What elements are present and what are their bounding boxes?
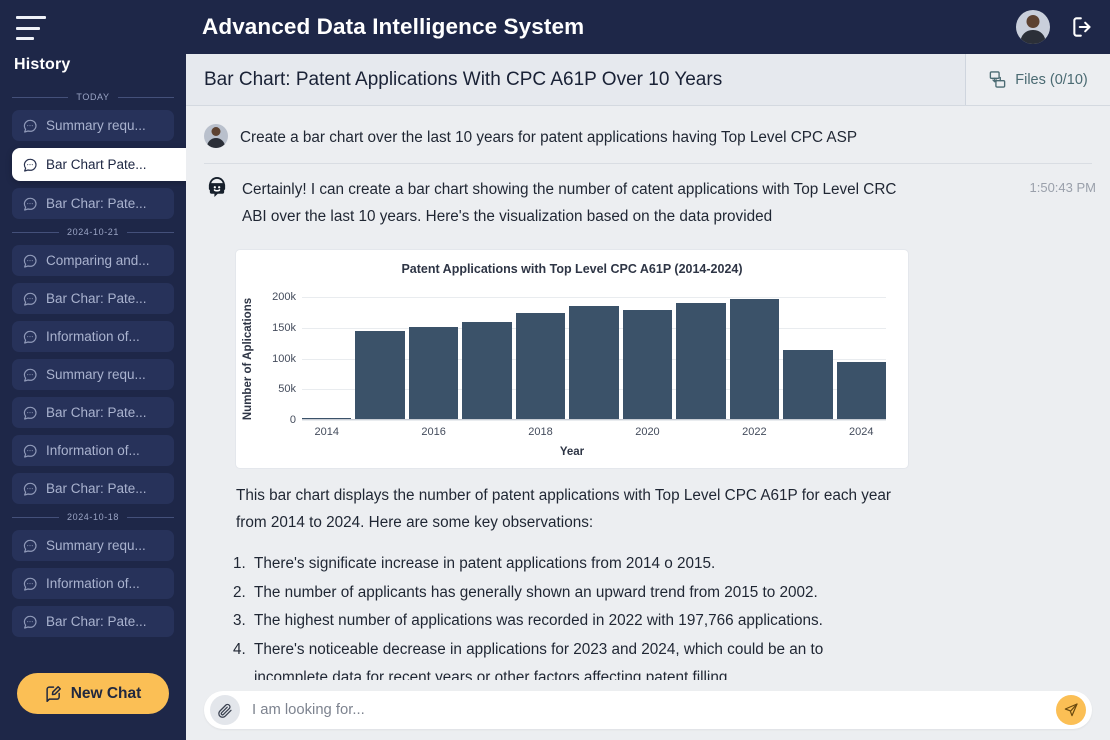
chart-bar — [837, 362, 886, 420]
history-item-label: Bar Char: Pate... — [46, 614, 147, 629]
composer-inner — [204, 691, 1092, 729]
search-input[interactable] — [240, 702, 1056, 718]
chart-y-tick-label: 50k — [278, 383, 296, 395]
chart-bar — [409, 327, 458, 420]
history-item-label: Bar Char: Pate... — [46, 291, 147, 306]
divider-line — [127, 517, 174, 518]
chat-scroll-area[interactable]: Create a bar chart over the last 10 year… — [186, 106, 1110, 680]
chat-bubble-icon — [22, 329, 38, 345]
chart-bar — [623, 310, 672, 420]
send-button[interactable] — [1056, 695, 1086, 725]
observations-list: There's significate increase in patent a… — [250, 550, 896, 680]
hamburger-bar — [16, 27, 40, 30]
chart-x-tick-label: 2020 — [623, 426, 672, 438]
chart-x-tick-label: 2018 — [516, 426, 565, 438]
conversation-title: Bar Chart: Patent Applications With CPC … — [204, 69, 722, 91]
conversation-title-wrap: Bar Chart: Patent Applications With CPC … — [186, 54, 965, 105]
history-item[interactable]: Summary requ... — [12, 530, 174, 561]
history-item-active[interactable]: Bar Chart Pate... — [12, 148, 186, 181]
hamburger-icon[interactable] — [16, 16, 48, 40]
avatar-head — [212, 127, 221, 136]
chart-card: Patent Applications with Top Level CPC A… — [236, 250, 908, 468]
chart-y-tick-label: 150k — [272, 322, 296, 334]
history-date-label: TODAY — [76, 92, 109, 102]
chart-bars — [302, 288, 886, 420]
observation-item: The number of applicants has generally s… — [250, 579, 896, 608]
history-list[interactable]: TODAYSummary requ...Bar Chart Pate...Bar… — [0, 84, 186, 673]
chart-y-tick-label: 100k — [272, 353, 296, 365]
chart-x-tick-label: 2014 — [302, 426, 351, 438]
conversation-header: Bar Chart: Patent Applications With CPC … — [186, 54, 1110, 106]
history-item[interactable]: Bar Char: Pate... — [12, 397, 174, 428]
chart-x-tick-label — [355, 426, 404, 438]
main-area: Advanced Data Intelligence System Bar Ch… — [186, 0, 1110, 740]
chart-summary: This bar chart displays the number of pa… — [236, 482, 896, 680]
sidebar: History TODAYSummary requ...Bar Chart Pa… — [0, 0, 186, 740]
history-item-label: Information of... — [46, 576, 140, 591]
history-item-label: Bar Char: Pate... — [46, 405, 147, 420]
history-item[interactable]: Information of... — [12, 568, 174, 599]
user-avatar[interactable] — [1016, 10, 1050, 44]
divider-line — [118, 97, 174, 98]
avatar-body — [207, 138, 225, 148]
chart-bar — [516, 313, 565, 420]
chart-x-tick-label — [462, 426, 511, 438]
chat-bubble-icon — [22, 538, 38, 554]
history-item-label: Information of... — [46, 329, 140, 344]
top-bar: Advanced Data Intelligence System — [186, 0, 1110, 54]
message-text: Create a bar chart over the last 10 year… — [240, 124, 1096, 151]
message-assistant: Certainly! I can create a bar chart show… — [186, 168, 1110, 238]
history-date-divider: 2024-10-18 — [12, 512, 174, 522]
message-user: Create a bar chart over the last 10 year… — [186, 116, 1110, 159]
history-item[interactable]: Information of... — [12, 321, 174, 352]
history-date-divider: 2024-10-21 — [12, 227, 174, 237]
history-item-label: Bar Char: Pate... — [46, 196, 147, 211]
chart-x-tick-label: 2024 — [837, 426, 886, 438]
message-divider — [204, 163, 1092, 164]
chart-y-tick-label: 0 — [290, 414, 296, 426]
history-heading: History — [14, 56, 186, 74]
chat-bubble-icon — [22, 443, 38, 459]
history-item-label: Bar Char: Pate... — [46, 481, 147, 496]
message-timestamp: 1:50:43 PM — [1030, 176, 1097, 230]
file-transfer-icon — [988, 70, 1007, 89]
history-item[interactable]: Summary requ... — [12, 110, 174, 141]
user-avatar — [204, 124, 228, 148]
composer — [186, 680, 1110, 740]
chat-bubble-icon — [22, 291, 38, 307]
chat-bubble-icon — [22, 481, 38, 497]
chart-x-tick-label: 2022 — [730, 426, 779, 438]
chat-bubble-icon — [22, 118, 38, 134]
hamburger-bar — [16, 16, 46, 19]
chart-plot-area: 050k100k150k200k — [302, 288, 886, 420]
history-item-label: Summary requ... — [46, 538, 146, 553]
new-chat-label: New Chat — [71, 685, 142, 703]
chart-x-tick-label — [676, 426, 725, 438]
history-item-label: Comparing and... — [46, 253, 150, 268]
chart-bar — [783, 350, 832, 420]
chart-gridline — [302, 420, 886, 421]
history-item[interactable]: Bar Char: Pate... — [12, 473, 174, 504]
chart-bar — [676, 303, 725, 420]
history-item-label: Bar Chart Pate... — [46, 157, 147, 172]
logout-icon[interactable] — [1070, 14, 1096, 40]
history-date-label: 2024-10-21 — [67, 227, 119, 237]
chart-title: Patent Applications with Top Level CPC A… — [236, 250, 908, 276]
chart-y-tick-label: 200k — [272, 291, 296, 303]
history-item-label: Information of... — [46, 443, 140, 458]
avatar-body — [1021, 30, 1046, 44]
chat-bubble-icon — [22, 576, 38, 592]
chart-x-axis — [302, 419, 886, 420]
history-item[interactable]: Bar Char: Pate... — [12, 606, 174, 637]
message-avatar — [204, 124, 228, 151]
chart-x-axis-label: Year — [236, 446, 908, 458]
chart-x-tick-label — [569, 426, 618, 438]
chat-bubble-icon — [22, 367, 38, 383]
avatar-head — [1027, 15, 1040, 28]
observation-item: There's noticeable decrease in applicati… — [250, 636, 896, 681]
history-item[interactable]: Comparing and... — [12, 245, 174, 276]
chart-x-tick-label — [783, 426, 832, 438]
chat-bubble-icon — [22, 614, 38, 630]
history-date-label: 2024-10-18 — [67, 512, 119, 522]
chart-y-axis-label: Number of Aplications — [242, 298, 254, 420]
message-body: Certainly! I can create a bar chart show… — [242, 176, 1018, 230]
history-item-label: Summary requ... — [46, 367, 146, 382]
summary-intro: This bar chart displays the number of pa… — [236, 482, 896, 536]
files-label: Files (0/10) — [1015, 72, 1088, 88]
hamburger-bar — [16, 37, 34, 40]
chart-bar — [462, 322, 511, 420]
message-body: Create a bar chart over the last 10 year… — [240, 124, 1096, 151]
divider-line — [12, 232, 59, 233]
chart-x-tick-label: 2016 — [409, 426, 458, 438]
divider-line — [12, 97, 68, 98]
files-button[interactable]: Files (0/10) — [965, 54, 1110, 105]
chart-x-ticks: 201420162018202020222024 — [302, 426, 886, 438]
chart-bar — [730, 299, 779, 420]
paperclip-icon[interactable] — [210, 695, 240, 725]
history-item[interactable]: Summary requ... — [12, 359, 174, 390]
observation-item: The highest number of applications was r… — [250, 607, 896, 636]
compose-icon — [45, 685, 62, 702]
chart-bar — [355, 331, 404, 420]
new-chat-button[interactable]: New Chat — [17, 673, 169, 714]
history-item[interactable]: Bar Char: Pate... — [12, 283, 174, 314]
history-date-divider: TODAY — [12, 92, 174, 102]
observation-item: There's significate increase in patent a… — [250, 550, 896, 579]
chat-bubble-icon — [22, 157, 38, 173]
divider-line — [12, 517, 59, 518]
chat-bubble-icon — [22, 405, 38, 421]
history-item[interactable]: Bar Char: Pate... — [12, 188, 174, 219]
message-text: Certainly! I can create a bar chart show… — [242, 176, 897, 230]
chart-bar — [569, 306, 618, 420]
divider-line — [127, 232, 174, 233]
history-item[interactable]: Information of... — [12, 435, 174, 466]
message-avatar — [204, 176, 230, 230]
bot-headset-icon — [204, 176, 230, 202]
chat-bubble-icon — [22, 253, 38, 269]
app-root: History TODAYSummary requ...Bar Chart Pa… — [0, 0, 1110, 740]
page-title: Advanced Data Intelligence System — [202, 14, 1016, 40]
history-item-label: Summary requ... — [46, 118, 146, 133]
chat-bubble-icon — [22, 196, 38, 212]
